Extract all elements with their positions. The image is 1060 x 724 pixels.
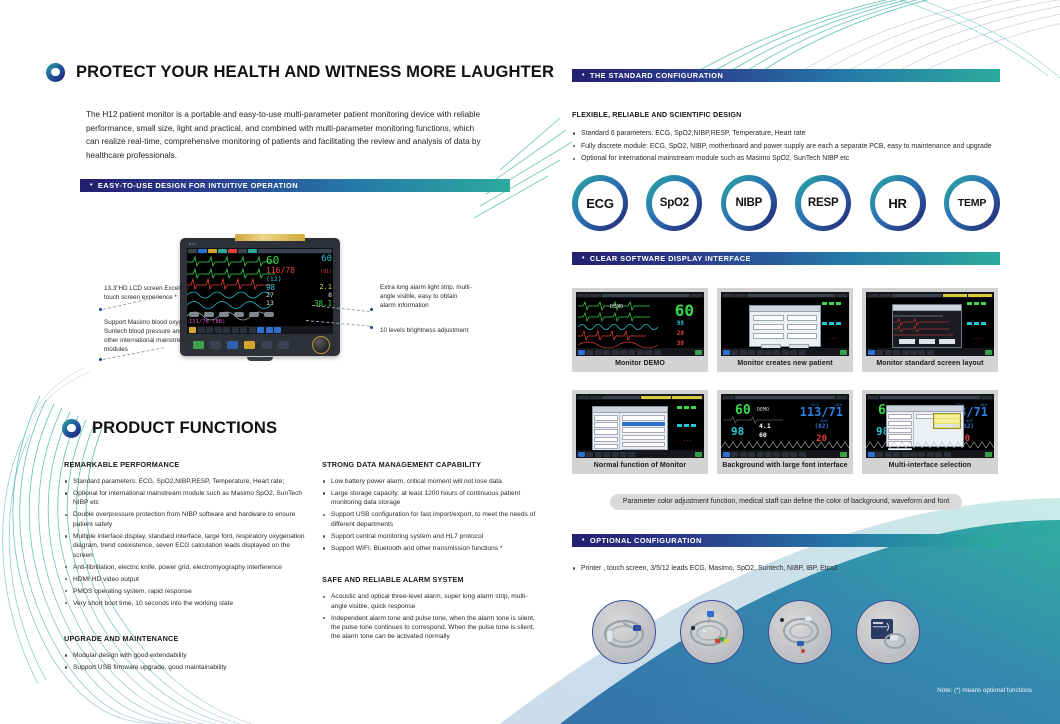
list-data-management: Low battery power alarm, critical moment… (322, 477, 537, 553)
list-item: HDMI HD video output (64, 575, 309, 584)
dialog-menu-item[interactable] (888, 428, 912, 433)
toolbar-key[interactable] (274, 327, 281, 333)
status-tag (238, 249, 247, 253)
toolbar-key[interactable] (206, 327, 213, 333)
list-item: Optional for international mainstream mo… (64, 489, 309, 508)
callout-dot-icon (99, 308, 102, 311)
toolbar-key[interactable] (612, 350, 619, 355)
hero-paragraph: The H12 patient monitor is a portable an… (86, 108, 486, 162)
toolbar-key[interactable] (790, 350, 797, 355)
parameter-label: NIBP (726, 181, 771, 226)
toolbar-key[interactable] (893, 452, 900, 457)
rotary-knob[interactable] (312, 336, 330, 354)
freeze-button[interactable] (227, 341, 238, 349)
list-item: Multiple interface display, standard int… (64, 532, 309, 560)
print-button[interactable] (278, 341, 289, 349)
toolbar-key[interactable] (603, 452, 610, 457)
status-tag (188, 249, 197, 253)
thumbnail-monitor-demo[interactable]: DEMO 60 98 20 38 Monitor DEMO (572, 288, 708, 372)
toolbar-key[interactable] (885, 452, 892, 457)
list-alarm-system: Acoustic and optical three-level alarm, … (322, 592, 537, 642)
battery-icon (695, 452, 702, 457)
vitals-placeholder (967, 302, 986, 305)
dialog-menu-item[interactable] (594, 422, 618, 428)
menu-button[interactable] (210, 341, 221, 349)
standard-config-section: • THE STANDARD CONFIGURATION FLEXIBLE, R… (572, 69, 1000, 167)
toolbar-key[interactable] (740, 452, 747, 457)
status-tag (735, 294, 746, 297)
callout-dot-icon (370, 326, 373, 329)
list-item: Low battery power alarm, critical moment… (322, 477, 537, 486)
dialog-row-selected[interactable] (622, 422, 665, 426)
toolbar-key[interactable] (893, 350, 900, 355)
screen-toolbar[interactable] (576, 348, 704, 356)
callout-brightness: 10 levels brightness adjustment (380, 326, 472, 335)
screen-status-bar (576, 394, 704, 400)
bar-optional-label: OPTIONAL CONFIGURATION (590, 534, 702, 547)
toolbar-key[interactable] (223, 327, 230, 333)
status-tag (602, 396, 640, 399)
thumbnail-image: 6 SYS DIA 3/71 MAP (82) 98 20 (862, 390, 998, 458)
toolbar-key[interactable] (902, 350, 909, 355)
dialog-menu-item[interactable] (888, 414, 912, 419)
status-tag (198, 249, 207, 253)
parameter-circle-hr: HR (870, 175, 926, 231)
status-tag (578, 294, 589, 297)
subheading-data-management: STRONG DATA MANAGEMENT CAPABILITY (322, 460, 537, 469)
thumbnail-caption: Monitor standard screen layout (862, 356, 998, 372)
list-item: Acoustic and optical three-level alarm, … (322, 592, 537, 611)
color-adjustment-note: Parameter color adjustment function, med… (610, 494, 962, 510)
thumb-resp-value: 20 (677, 330, 684, 337)
toolbar-key[interactable] (765, 350, 772, 355)
dialog-row[interactable] (622, 435, 665, 441)
dialog-field[interactable] (787, 333, 818, 339)
screen-toolbar[interactable] (721, 348, 849, 356)
thumb-spo2-value: 98 (677, 320, 684, 327)
status-tag (723, 294, 734, 297)
list-item: Fully discrete module: ECG, SpO2, NIBP, … (572, 142, 1000, 152)
thumb-hr-value: 60 (675, 301, 694, 320)
bar-software-interface: • CLEAR SOFTWARE DISPLAY INTERFACE (572, 252, 1000, 265)
dialog-field[interactable] (753, 333, 784, 339)
toolbar-key[interactable] (595, 350, 602, 355)
thumbnail-caption: Multi-interface selection (862, 458, 998, 474)
toolbar-key[interactable] (723, 350, 730, 355)
parameter-circle-ecg: ECG (572, 175, 628, 231)
bullet-dot-icon: • (90, 182, 93, 189)
page-title: PROTECT YOUR HEALTH AND WITNESS MORE LAU… (76, 62, 554, 82)
list-item: Support USB firmware upgrade, good maint… (64, 663, 309, 672)
accessory-ibp-cable (768, 600, 832, 664)
accessory-nibp-cuff-module (856, 600, 920, 664)
dialog-menu-item[interactable] (594, 444, 618, 450)
subheading-alarm-system: SAFE AND RELIABLE ALARM SYSTEM (322, 575, 537, 584)
alarm-button[interactable] (244, 341, 255, 349)
alarm-tag (641, 396, 671, 399)
ring-icon (46, 63, 65, 82)
cable-illustration (769, 601, 831, 663)
toolbar-key[interactable] (773, 452, 780, 457)
thumbnail-image: --- (572, 390, 708, 458)
list-item: Anti-fibrillation, electric knife, power… (64, 563, 309, 572)
alarm-light-strip (235, 234, 305, 241)
toolbar-key[interactable] (773, 350, 780, 355)
toolbar-key[interactable] (578, 452, 585, 457)
toolbar-key[interactable] (731, 350, 738, 355)
monitor-stand (247, 357, 273, 361)
battery-icon (840, 350, 847, 355)
parameter-circle-nibp: NIBP (721, 175, 777, 231)
status-tag (836, 294, 847, 297)
toolbar-key[interactable] (935, 452, 942, 457)
toolbar-key[interactable] (868, 350, 875, 355)
brochure-page: PROTECT YOUR HEALTH AND WITNESS MORE LAU… (0, 0, 1060, 724)
toolbar-key[interactable] (944, 452, 951, 457)
thumbnail-image: --- (717, 288, 853, 356)
alarm-tag (943, 294, 967, 297)
parameter-circle-temp: TEMP (944, 175, 1000, 231)
thumbnail-caption: Normal function of Monitor (572, 458, 708, 474)
subheading-upgrade-maintenance: UPGRADE AND MAINTENANCE (64, 634, 309, 643)
toolbar-key[interactable] (740, 350, 747, 355)
optional-list: Printer , touch screen, 3/5/12 leads ECG… (572, 564, 1000, 574)
toolbar-key[interactable] (782, 452, 789, 457)
list-item: Support USB configuration for fast impor… (322, 510, 537, 529)
toolbar-key[interactable] (876, 350, 883, 355)
parameter-label: HR (875, 181, 920, 226)
thumbnail-normal-function[interactable]: --- Normal function of Monitor (572, 390, 708, 474)
dialog-button[interactable] (919, 339, 935, 344)
bar-easy-to-use: • EASY-TO-USE DESIGN FOR INTUITIVE OPERA… (80, 179, 510, 192)
status-tag (578, 396, 589, 399)
thumbnail-image: 60 DEMO SYS DIA 113/71 MAP (82) 98 4.1 6… (717, 390, 853, 458)
status-tag (248, 249, 257, 253)
list-item: Support WIFI, Bluetooth and other transm… (322, 544, 537, 553)
nibp-button[interactable] (261, 341, 272, 349)
list-item: Modular design with good extendability (64, 651, 309, 660)
toolbar-key[interactable] (586, 452, 593, 457)
bar-easy-to-use-label: EASY-TO-USE DESIGN FOR INTUITIVE OPERATI… (98, 179, 298, 192)
thumbnail-large-font-interface[interactable]: 60 DEMO SYS DIA 113/71 MAP (82) 98 4.1 6… (717, 390, 853, 474)
bullet-dot-icon: • (582, 255, 585, 262)
vitals-placeholder: --- (683, 438, 692, 444)
list-upgrade-maintenance: Modular design with good extendability S… (64, 651, 309, 672)
toolbar-key[interactable] (918, 350, 925, 355)
toolbar-key[interactable] (215, 327, 222, 333)
monitor-brand-label: H12 (189, 242, 196, 246)
waveform-area (723, 415, 783, 425)
product-functions-heading: PRODUCT FUNCTIONS (62, 418, 277, 438)
toolbar-key[interactable] (645, 350, 652, 355)
toolbar-key[interactable] (628, 452, 635, 457)
toolbar-key[interactable] (620, 452, 627, 457)
toolbar-key[interactable] (628, 350, 635, 355)
status-tag (747, 294, 835, 297)
thumbnail-image: DEMO 60 98 20 38 (572, 288, 708, 356)
toolbar-key[interactable] (620, 350, 627, 355)
thumbnail-caption: Monitor DEMO (572, 356, 708, 372)
toolbar-key[interactable] (910, 452, 917, 457)
demo-label: DEMO (757, 407, 769, 413)
bar-software-label: CLEAR SOFTWARE DISPLAY INTERFACE (590, 252, 751, 265)
callout-masimo-modules: Support Masimo blood oxygen, Suntech blo… (104, 318, 196, 354)
status-tag (981, 396, 992, 399)
parameter-label: SpO2 (652, 181, 697, 226)
dropdown-option[interactable] (935, 415, 959, 418)
thumbnail-caption: Monitor creates new patient (717, 356, 853, 372)
screen-toolbar[interactable] (576, 450, 704, 458)
toolbar-key[interactable] (654, 350, 661, 355)
status-tag (880, 294, 891, 297)
vitals-numeric-area: 60 60 116/78 (91) (12) 98 (266, 255, 332, 331)
toolbar-key[interactable] (612, 452, 619, 457)
status-tag (836, 396, 847, 399)
list-item: Support central monitoring system and HL… (322, 532, 537, 541)
alarm-tag (968, 294, 992, 297)
toolbar-key[interactable] (927, 452, 934, 457)
screen-toolbar[interactable] (721, 450, 849, 458)
dialog-menu-item[interactable] (594, 429, 618, 435)
status-tag (880, 396, 980, 399)
dropdown-menu[interactable] (933, 413, 961, 429)
vitals-placeholder (822, 302, 841, 305)
thumbnail-create-new-patient[interactable]: --- Monitor creates new patient (717, 288, 853, 372)
screen-toolbar[interactable] (866, 348, 994, 356)
battery-icon (695, 350, 702, 355)
vital-nibp-mean: (91) (320, 267, 332, 275)
dialog-menu-item[interactable] (594, 437, 618, 443)
screen-status-bar (576, 292, 704, 298)
list-item: Optional for international mainstream mo… (572, 154, 1000, 164)
functions-column-right: STRONG DATA MANAGEMENT CAPABILITY Low ba… (322, 460, 537, 644)
dialog-row[interactable] (622, 415, 665, 421)
status-tag (868, 396, 879, 399)
subheading-remarkable-performance: REMARKABLE PERFORMANCE (64, 460, 309, 469)
status-tag (868, 294, 879, 297)
toolbar-key[interactable] (757, 350, 764, 355)
dialog-button[interactable] (939, 339, 955, 344)
accessory-spo2-sensor-cable (592, 600, 656, 664)
toolbar-key[interactable] (782, 350, 789, 355)
vital-nibp: 116/78 (266, 267, 295, 275)
status-tag (228, 249, 237, 253)
dialog-waveform-preview (893, 311, 959, 338)
list-item: PMOS operating system, rapid response (64, 587, 309, 596)
vital-aux: 13 (266, 300, 274, 307)
toolbar-key[interactable] (723, 452, 730, 457)
status-tag (208, 249, 217, 253)
status-tag (735, 396, 835, 399)
waveform-strip (721, 440, 849, 450)
thumb-hr-value: 6 (878, 403, 886, 418)
status-tag (218, 249, 227, 253)
callout-dot-icon (99, 358, 102, 361)
dropdown-option[interactable] (935, 419, 959, 422)
vital-spo2: 98 (266, 284, 275, 292)
vitals-placeholder (677, 406, 696, 409)
list-item: Standard parameters: ECG, SpO2,NIBP,RESP… (64, 477, 309, 486)
toolbar-key[interactable] (257, 327, 264, 333)
optional-footnote: Note: (*) means optional functions (937, 687, 1032, 694)
thumb-spo2-value: 98 (731, 425, 744, 438)
battery-icon (985, 350, 992, 355)
bar-standard-configuration: • THE STANDARD CONFIGURATION (572, 69, 1000, 82)
thumb-pr-value: 60 (759, 431, 767, 439)
toolbar-key[interactable] (603, 350, 610, 355)
status-tag (258, 249, 332, 253)
bullet-dot-icon: • (582, 72, 585, 79)
hero-heading: PROTECT YOUR HEALTH AND WITNESS MORE LAU… (46, 62, 554, 82)
dropdown-option[interactable] (935, 424, 959, 427)
thumb-nibp-value: 113/71 (800, 405, 843, 419)
demo-label: DEMO (610, 304, 623, 310)
vitals-placeholder: --- (828, 336, 837, 342)
screen-status-bar (721, 292, 849, 298)
layout-dialog[interactable] (892, 304, 962, 348)
thumb-extra-value: 38 (677, 340, 684, 347)
new-patient-dialog[interactable] (749, 305, 821, 347)
functions-column-left: REMARKABLE PERFORMANCE Standard paramete… (64, 460, 309, 675)
toolbar-key[interactable] (637, 350, 644, 355)
toolbar-key[interactable] (586, 350, 593, 355)
patient-monitor: H12 (180, 238, 340, 356)
alarm-tag (672, 396, 702, 399)
bullet-dot-icon: • (582, 537, 585, 544)
battery-icon (985, 452, 992, 457)
toolbar-key[interactable] (578, 350, 585, 355)
parameter-circle-resp: RESP (795, 175, 851, 231)
vital-rr: 8 (328, 292, 332, 299)
vitals-placeholder (677, 424, 696, 427)
vital-etco2: 2.1 (319, 284, 332, 291)
thumbnail-standard-screen-layout[interactable]: --- Monitor standard screen layout (862, 288, 998, 372)
design-heading: FLEXIBLE, RELIABLE AND SCIENTIFIC DESIGN (572, 110, 1000, 119)
accessory-ecg-lead-wires (680, 600, 744, 664)
toolbar-key[interactable] (232, 327, 239, 333)
design-list: Standard 6 parameters: ECG, SpO2,NIBP,RE… (572, 129, 1000, 164)
status-tag (590, 396, 601, 399)
software-interface-section: • CLEAR SOFTWARE DISPLAY INTERFACE (572, 252, 1000, 265)
screen-status-bar (866, 394, 994, 400)
vitals-placeholder: --- (973, 336, 982, 342)
dialog-menu-item[interactable] (888, 434, 912, 439)
toolbar-key[interactable] (249, 327, 256, 333)
vitals-placeholder (822, 322, 841, 325)
callout-lcd-screen: 13.3"HD LCD screen Excellent touch scree… (104, 284, 196, 302)
callout-dot-icon (370, 308, 373, 311)
vital-hr: 60 (266, 255, 279, 266)
list-item: Double overpressure protection from NIBP… (64, 510, 309, 529)
accessory-gallery (592, 600, 920, 664)
toolbar-key[interactable] (266, 327, 273, 333)
list-remarkable-performance: Standard parameters: ECG, SpO2,NIBP,RESP… (64, 477, 309, 608)
status-tag (723, 396, 734, 399)
screen-toolbar[interactable] (187, 326, 333, 334)
thumbnail-row-2: --- Normal function of Monitor 6 (572, 390, 1000, 474)
toolbar-key[interactable] (868, 452, 875, 457)
list-item: Large storage capacity: at least 1200 ho… (322, 489, 537, 508)
toolbar-key[interactable] (748, 350, 755, 355)
dialog-menu-item[interactable] (594, 415, 618, 421)
list-item: Independent alarm tone and pulse tone, w… (322, 614, 537, 642)
toolbar-key[interactable] (799, 350, 806, 355)
thumbnail-image: --- (862, 288, 998, 356)
toolbar-key[interactable] (910, 350, 917, 355)
toolbar-key[interactable] (918, 452, 925, 457)
vital-ibp-mean: (88) (212, 319, 225, 325)
cable-illustration (593, 601, 655, 663)
settings-dialog[interactable] (592, 406, 668, 452)
toolbar-key[interactable] (748, 452, 755, 457)
thumbnail-multi-interface[interactable]: 6 SYS DIA 3/71 MAP (82) 98 20 (862, 390, 998, 474)
toolbar-key[interactable] (927, 350, 934, 355)
vital-resp: (12) (266, 276, 282, 283)
battery-icon (840, 452, 847, 457)
parameter-circle-spo2: SpO2 (646, 175, 702, 231)
vitals-placeholder (967, 322, 986, 325)
parameter-circles: ECG SpO2 NIBP RESP HR TEMP (572, 175, 1000, 231)
list-item: Very short boot time, 10 seconds into th… (64, 599, 309, 608)
toolbar-key[interactable] (876, 452, 883, 457)
screen-status-bar (721, 394, 849, 400)
dialog-button[interactable] (899, 339, 915, 344)
toolbar-key[interactable] (595, 452, 602, 457)
status-tag (892, 294, 942, 297)
bar-standard-label: THE STANDARD CONFIGURATION (590, 69, 723, 82)
thumbnail-caption: Background with large font interface (717, 458, 853, 474)
ring-icon (62, 419, 81, 438)
toolbar-key[interactable] (799, 452, 806, 457)
parameter-label: ECG (578, 181, 623, 226)
dialog-field[interactable] (753, 324, 784, 330)
dialog-field[interactable] (787, 315, 818, 321)
waveform-strip (866, 440, 994, 450)
toolbar-key[interactable] (757, 452, 764, 457)
list-item: Printer , touch screen, 3/5/12 leads ECG… (572, 564, 1000, 574)
parameter-label: TEMP (949, 181, 994, 226)
status-tag (691, 294, 702, 297)
toolbar-key[interactable] (240, 327, 247, 333)
cable-illustration (681, 601, 743, 663)
vital-pulse: 27 (266, 292, 274, 299)
vital-pr: 60 (321, 255, 332, 264)
list-item: Standard 6 parameters: ECG, SpO2,NIBP,RE… (572, 129, 1000, 139)
product-functions-title: PRODUCT FUNCTIONS (92, 418, 277, 438)
dialog-row[interactable] (622, 427, 665, 433)
screen-toolbar[interactable] (866, 450, 994, 458)
optional-config-section: • OPTIONAL CONFIGURATION Printer , touch… (572, 534, 1000, 577)
toolbar-key[interactable] (790, 452, 797, 457)
dialog-field[interactable] (753, 315, 784, 321)
status-tag (590, 294, 601, 297)
dialog-field[interactable] (787, 324, 818, 330)
dialog-row[interactable] (622, 442, 665, 448)
screen-body: 60 60 116/78 (91) (12) 98 (187, 254, 333, 334)
dialog-menu-item[interactable] (888, 421, 912, 426)
callout-alarm-strip: Extra long alarm light strip, multi-angl… (380, 283, 472, 310)
status-tag (602, 294, 690, 297)
toolbar-key[interactable] (765, 452, 772, 457)
toolbar-key[interactable] (198, 327, 205, 333)
thumb-map-value: (82) (815, 423, 829, 430)
toolbar-key[interactable] (902, 452, 909, 457)
toolbar-key[interactable] (731, 452, 738, 457)
thumbnail-row-1: DEMO 60 98 20 38 Monitor DEMO (572, 288, 1000, 372)
bar-optional-configuration: • OPTIONAL CONFIGURATION (572, 534, 1000, 547)
toolbar-key[interactable] (885, 350, 892, 355)
module-illustration (857, 601, 919, 663)
